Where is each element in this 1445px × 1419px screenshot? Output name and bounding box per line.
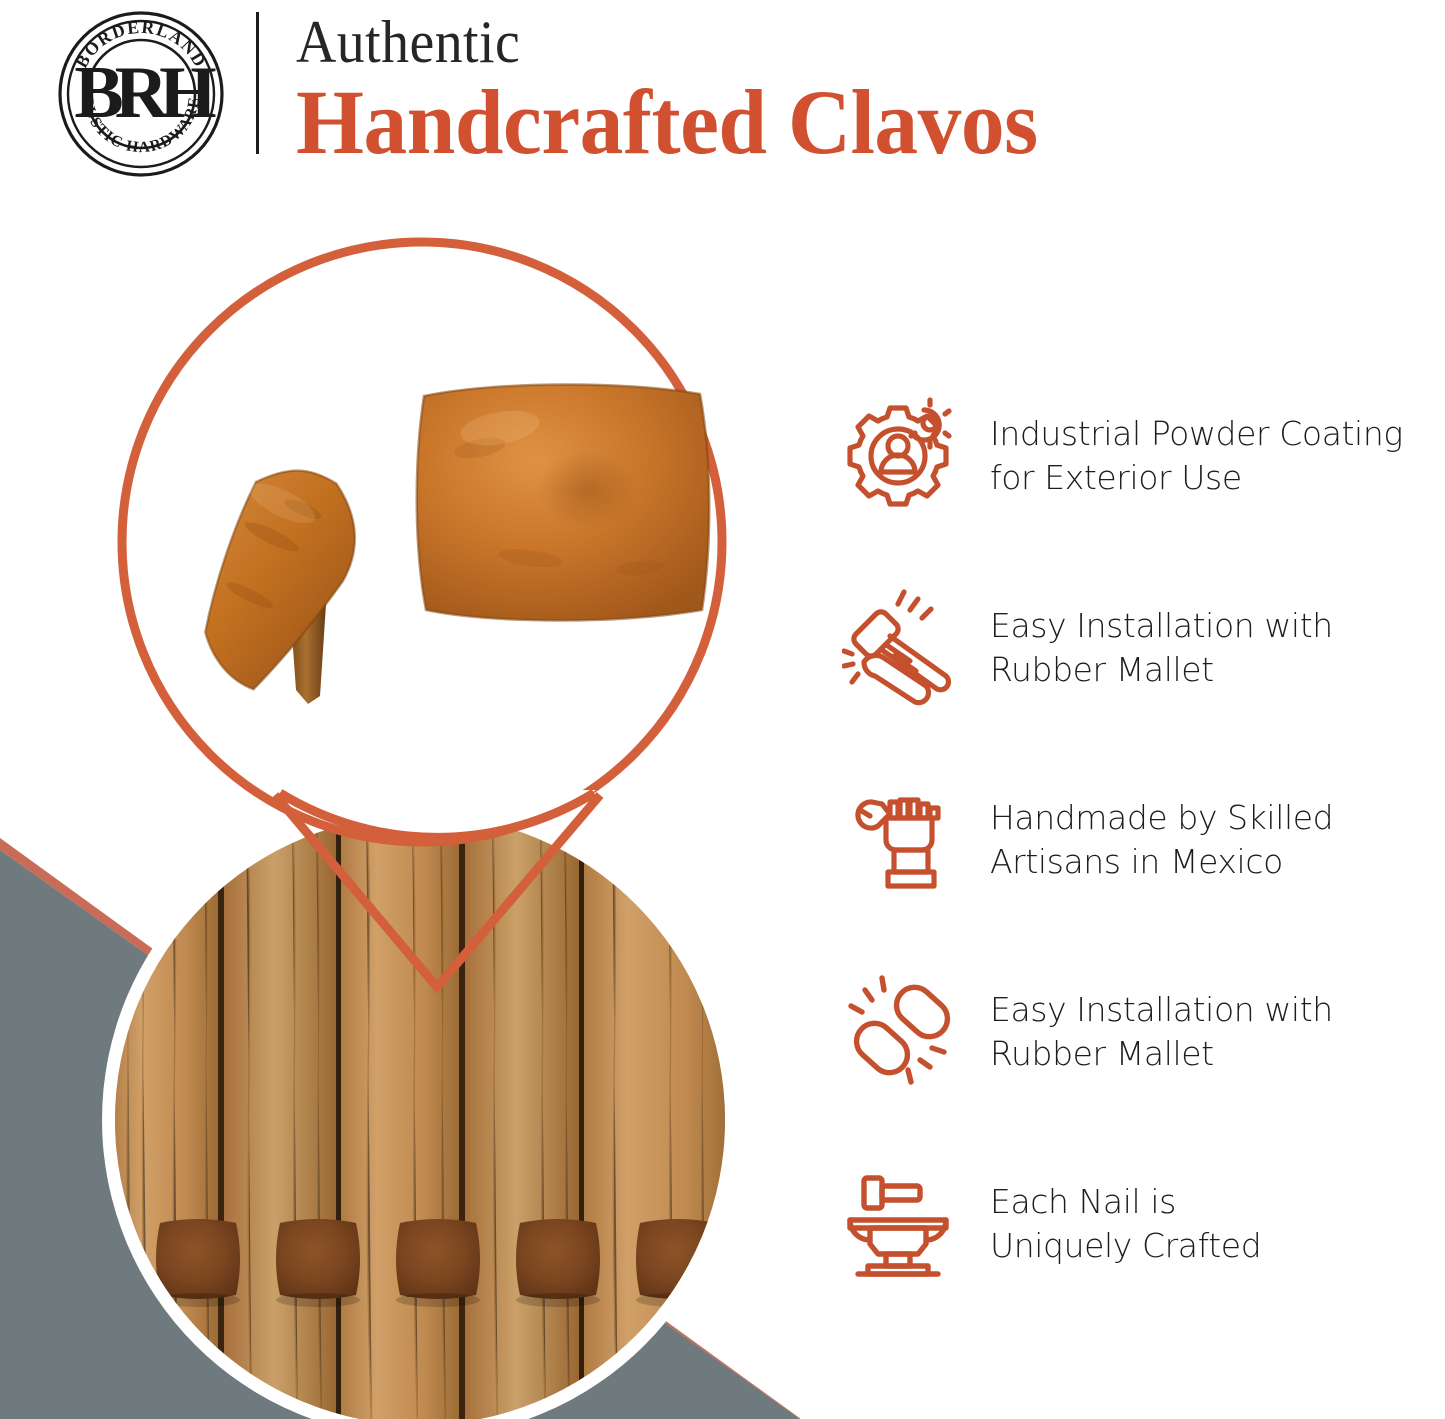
page-header: BORDERLAND RUSTIC HARDWARE BRH Authentic… xyxy=(0,0,1445,200)
feature-row-handmade-artisans: Handmade by Skilled Artisans in Mexico xyxy=(836,744,1445,936)
clavo-tilted xyxy=(170,428,500,758)
feature-row-easy-install-mallet: Easy Installation with Rubber Mallet xyxy=(836,552,1445,744)
title-line-authentic: Authentic xyxy=(296,8,1338,76)
page-title: Authentic Handcrafted Clavos xyxy=(296,8,1416,172)
feature-label: Each Nail is Uniquely Crafted xyxy=(990,1180,1261,1268)
feature-label: Easy Installation with Rubber Mallet xyxy=(990,988,1333,1076)
feature-row-powder-coating: Industrial Powder Coating for Exterior U… xyxy=(836,360,1445,552)
anvil-hammer-icon xyxy=(836,1158,968,1290)
product-visual-stage xyxy=(0,190,800,1419)
feature-list: Industrial Powder Coating for Exterior U… xyxy=(836,360,1445,1320)
feature-row-uniquely-crafted: Each Nail is Uniquely Crafted xyxy=(836,1128,1445,1320)
brand-logo: BORDERLAND RUSTIC HARDWARE BRH xyxy=(56,9,226,179)
gear-worker-icon xyxy=(836,390,968,522)
feature-row-easy-install-mallet-2: Easy Installation with Rubber Mallet xyxy=(836,936,1445,1128)
feature-label: Easy Installation with Rubber Mallet xyxy=(990,604,1333,692)
chain-link-icon xyxy=(836,966,968,1098)
title-line-handcrafted-clavos: Handcrafted Clavos xyxy=(296,72,1360,172)
logo-monogram: BRH xyxy=(74,52,216,134)
feature-label: Industrial Powder Coating for Exterior U… xyxy=(990,412,1403,500)
hand-mallet-icon xyxy=(836,582,968,714)
fist-wrench-icon xyxy=(836,774,968,906)
brh-seal-icon: BORDERLAND RUSTIC HARDWARE BRH xyxy=(56,9,226,179)
header-divider xyxy=(256,12,259,154)
feature-label: Handmade by Skilled Artisans in Mexico xyxy=(990,796,1333,884)
product-photo-clavos xyxy=(160,350,720,750)
